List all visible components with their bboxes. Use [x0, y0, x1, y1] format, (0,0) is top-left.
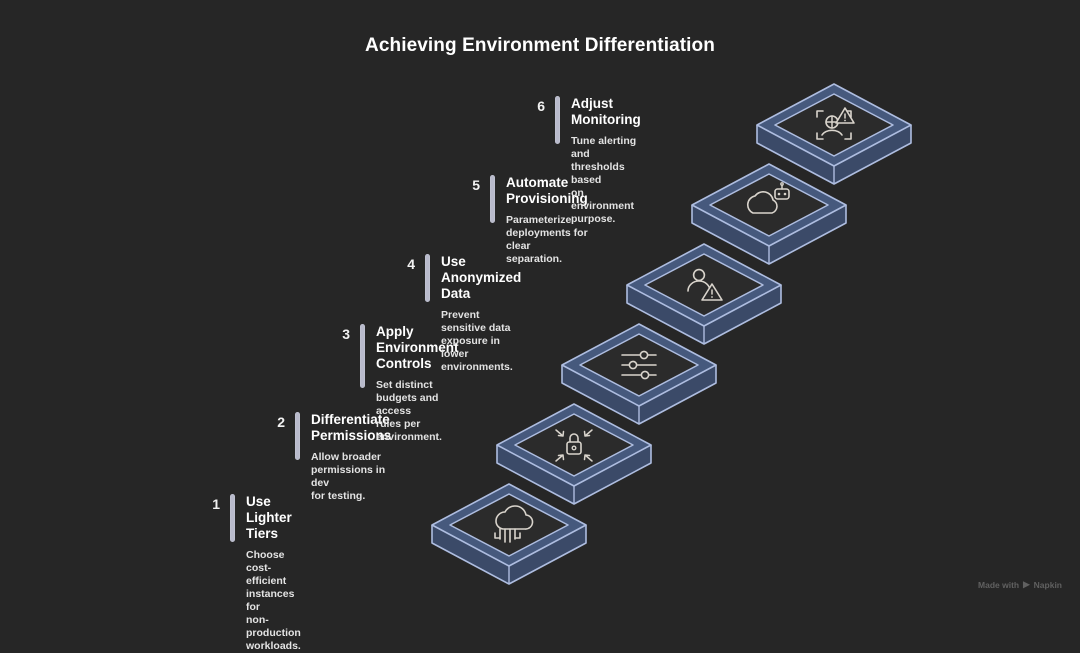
- infographic-canvas: Achieving Environment Differentiation: [0, 0, 1080, 608]
- step-block-5[interactable]: [692, 164, 846, 264]
- watermark-brand: Napkin: [1034, 580, 1062, 590]
- step-number-5: 5: [456, 177, 480, 193]
- step-title-1: Use Lighter Tiers: [246, 494, 301, 542]
- napkin-logo-icon: ▶: [1023, 579, 1030, 590]
- step-block-1[interactable]: [432, 484, 586, 584]
- step-accent-bar-3: [360, 324, 365, 388]
- step-number-6: 6: [521, 98, 545, 114]
- icon-step-3: [622, 351, 656, 378]
- step-title-6: Adjust Monitoring: [571, 96, 641, 128]
- step-number-1: 1: [196, 496, 220, 512]
- step-description-1: Choose cost-efficient instances for non-…: [246, 549, 301, 653]
- step-accent-bar-2: [295, 412, 300, 460]
- step-accent-bar-5: [490, 175, 495, 223]
- step-description-6: Tune alerting and thresholds based on en…: [571, 135, 641, 226]
- step-description-3: Set distinct budgets and access rules pe…: [376, 379, 459, 444]
- step-block-3[interactable]: [562, 324, 716, 424]
- step-description-2: Allow broader permissions in dev for tes…: [311, 451, 391, 503]
- isometric-staircase: [0, 0, 1080, 608]
- step-block-2[interactable]: [497, 404, 651, 504]
- step-number-4: 4: [391, 256, 415, 272]
- step-accent-bar-4: [425, 254, 430, 302]
- step-block-6[interactable]: [757, 84, 911, 184]
- step-number-2: 2: [261, 414, 285, 430]
- step-description-4: Prevent sensitive data exposure in lower…: [441, 309, 521, 374]
- watermark-prefix: Made with: [978, 580, 1019, 590]
- step-block-4[interactable]: [627, 244, 781, 344]
- watermark: Made with ▶ Napkin: [978, 579, 1062, 590]
- step-accent-bar-6: [555, 96, 560, 144]
- step-number-3: 3: [326, 326, 350, 342]
- step-accent-bar-1: [230, 494, 235, 542]
